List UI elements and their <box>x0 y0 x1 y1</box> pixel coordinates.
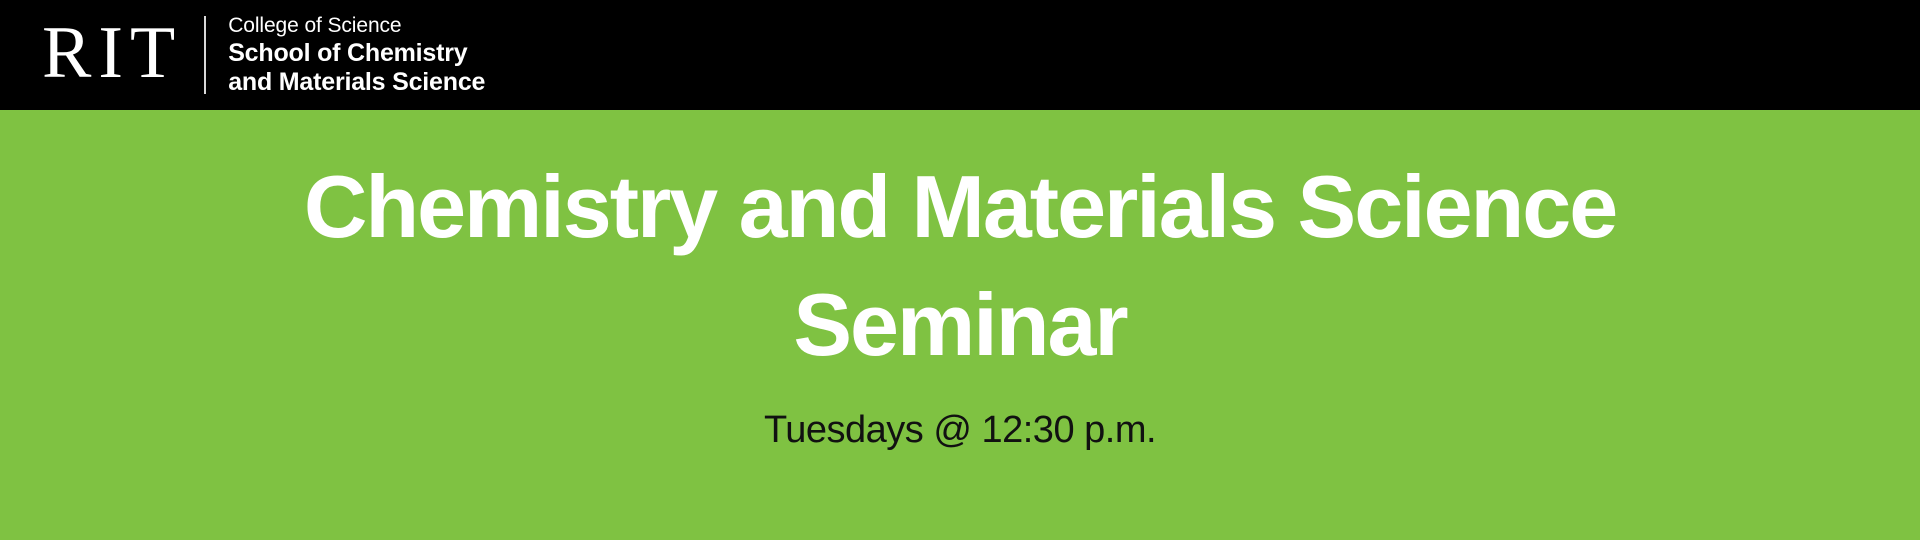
seminar-banner-page: RIT College of Science School of Chemist… <box>0 0 1920 540</box>
page-title-line-2: Seminar <box>210 266 1710 384</box>
rit-logo-lockup[interactable]: RIT College of Science School of Chemist… <box>42 0 485 110</box>
vertical-divider-icon <box>204 16 206 94</box>
site-header-bar: RIT College of Science School of Chemist… <box>0 0 1920 110</box>
logo-school-line-1: School of Chemistry <box>228 39 485 68</box>
logo-college-line: College of Science <box>228 13 485 39</box>
rit-wordmark[interactable]: RIT <box>42 16 188 90</box>
logo-unit-name: College of Science School of Chemistry a… <box>228 13 485 97</box>
page-title-line-1: Chemistry and Materials Science <box>210 148 1710 266</box>
page-subtitle: Tuesdays @ 12:30 p.m. <box>764 408 1156 452</box>
page-title: Chemistry and Materials Science Seminar <box>210 148 1710 384</box>
seminar-banner: Chemistry and Materials Science Seminar … <box>0 110 1920 540</box>
logo-school-line-2: and Materials Science <box>228 68 485 97</box>
